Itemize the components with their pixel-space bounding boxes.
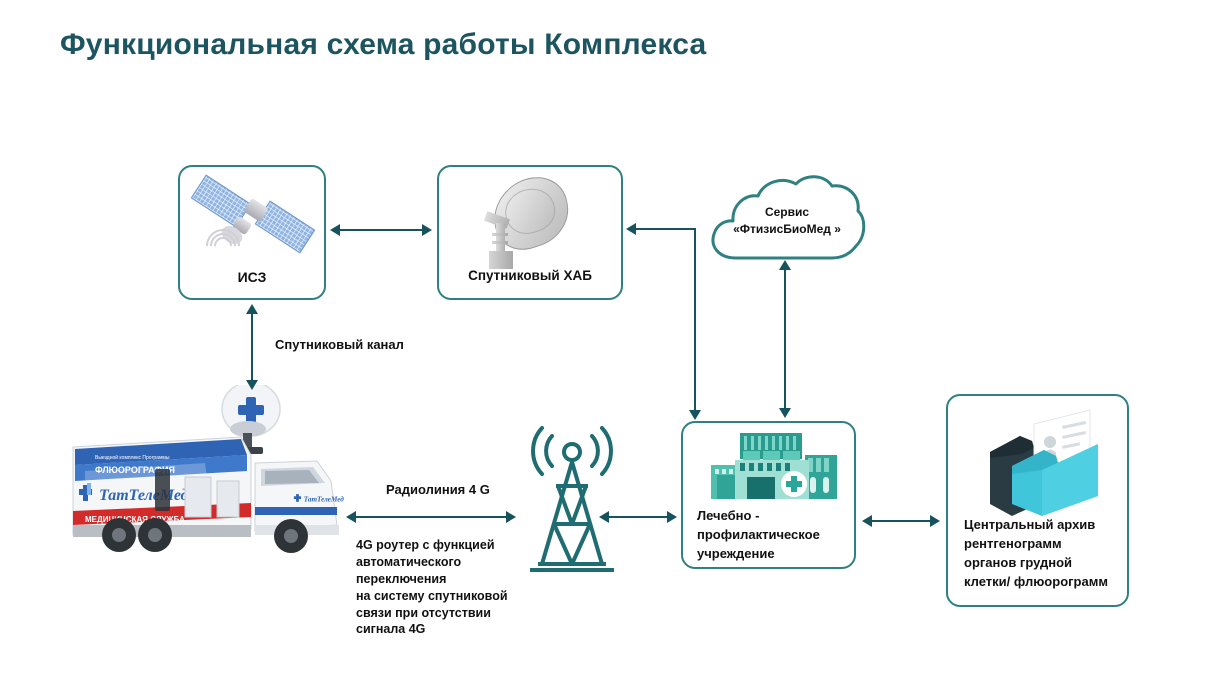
cloud-service-label-line1: Сервис	[706, 204, 868, 220]
node-medical-facility[interactable]: Лечебно - профилактическое учреждение	[681, 421, 856, 569]
node-satellite[interactable]: ИСЗ	[178, 165, 326, 300]
node-central-archive[interactable]: Центральный архив рентгенограмм органов …	[946, 394, 1129, 607]
cell-tower-icon	[516, 424, 628, 582]
satellite-icon	[188, 175, 320, 265]
node-medical-facility-label: Лечебно - профилактическое учреждение	[697, 507, 846, 564]
edge-label-satellite-channel: Спутниковый канал	[275, 337, 404, 352]
truck-brand: ТатТелеМед	[99, 487, 189, 504]
archive-folders-icon	[972, 408, 1122, 516]
router-note: 4G роутер с функцией автоматического пер…	[356, 537, 508, 638]
node-cloud-service[interactable]: Сервис «ФтизисБиоМед »	[706, 166, 868, 274]
satellite-dish-icon	[469, 175, 595, 271]
svg-text:ТатТелеМед: ТатТелеМед	[304, 495, 344, 503]
page-title: Функциональная схема работы Комплекса	[60, 28, 706, 62]
node-satellite-hub-label: Спутниковый ХАБ	[439, 268, 621, 285]
node-central-archive-label: Центральный архив рентгенограмм органов …	[964, 516, 1121, 591]
node-satellite-hub[interactable]: Спутниковый ХАБ	[437, 165, 623, 300]
medical-truck-icon: Выездной комплекс Программы ФЛЮОРОГРАФИЯ…	[55, 385, 360, 560]
truck-small-text: Выездной комплекс Программы	[95, 454, 170, 461]
node-satellite-label: ИСЗ	[180, 269, 324, 287]
truck-stripe-text: МЕДИЦИНСКАЯ СЛУЖБА	[85, 515, 185, 524]
cloud-service-label-line2: «ФтизисБиоМед »	[706, 221, 868, 237]
edge-label-radio-link: Радиолиния 4 G	[386, 482, 490, 497]
hospital-icon	[709, 429, 839, 501]
